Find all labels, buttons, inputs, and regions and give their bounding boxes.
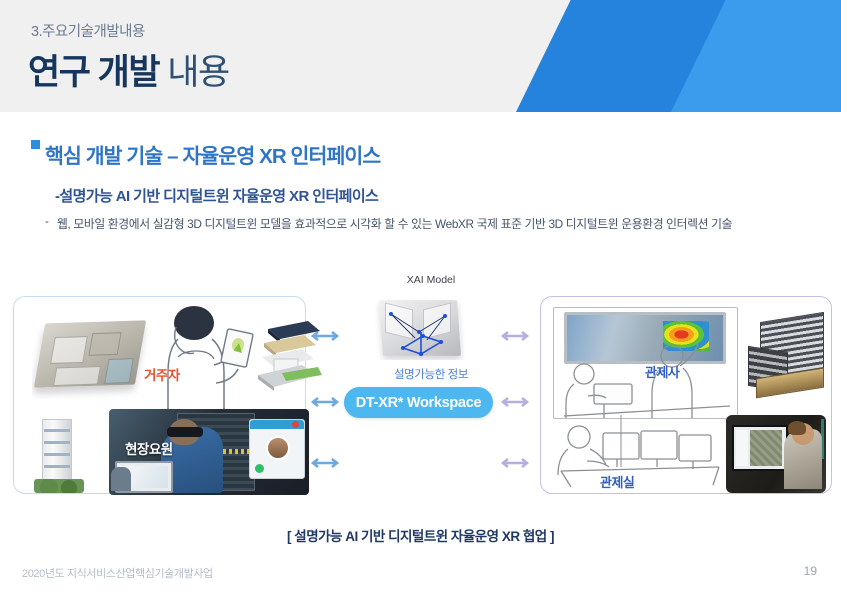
xai-model-image — [375, 298, 465, 360]
xai-model-caption: XAI Model — [386, 274, 476, 286]
building-render-image — [746, 311, 826, 403]
section-kicker: 3.주요기술개발내용 — [31, 20, 145, 41]
section-body-text: 웹, 모바일 환경에서 실감형 3D 디지털트윈 모델을 효과적으로 시각화 할… — [57, 214, 757, 234]
label-resident: 거주자 — [144, 364, 180, 384]
arrow-right-bottom-icon — [500, 457, 530, 469]
slide: 3.주요기술개발내용 연구 개발 내용 핵심 개발 기술 – 자율운영 XR 인… — [0, 0, 841, 595]
page-title-light: 내용 — [167, 53, 228, 92]
arrow-left-top-icon — [310, 330, 340, 342]
left-panel — [13, 296, 306, 494]
arrow-left-middle-icon — [310, 396, 340, 408]
footer-text: 2020년도 지식서비스산업핵심기술개발사업 — [22, 565, 213, 581]
operator-desk-illustration — [551, 415, 726, 493]
right-panel — [540, 296, 832, 494]
page-title-strong: 연구 개발 — [28, 53, 159, 92]
label-control-room: 관제실 — [600, 472, 634, 491]
apartment-tower-image — [34, 415, 84, 493]
dt-xr-workspace-pill: DT-XR* Workspace — [344, 387, 493, 418]
explainable-info-label: 설명가능한 정보 — [356, 366, 506, 382]
operator-photo — [726, 415, 826, 493]
exploded-house-model-image — [252, 317, 324, 395]
section-sub-heading: -설명가능 AI 기반 디지털트윈 자율운영 XR 인터페이스 — [55, 185, 378, 206]
section-heading: 핵심 개발 기술 – 자율운영 XR 인터페이스 — [45, 139, 380, 169]
page-number: 19 — [804, 564, 817, 578]
figure-caption: [ 설명가능 AI 기반 디지털트윈 자율운영 XR 협업 ] — [0, 525, 841, 545]
floorplan-3d-image — [32, 311, 152, 399]
arrow-right-top-icon — [500, 330, 530, 342]
label-controller: 관제사 — [645, 362, 679, 381]
arrow-right-middle-icon — [500, 396, 530, 408]
square-bullet-icon — [31, 140, 40, 149]
arrow-left-bottom-icon — [310, 457, 340, 469]
bullet-dash-icon: - — [45, 216, 49, 228]
label-field-worker: 현장요원 — [125, 438, 173, 458]
page-title: 연구 개발 내용 — [28, 44, 229, 95]
resident-with-tablet-illustration — [154, 305, 259, 420]
